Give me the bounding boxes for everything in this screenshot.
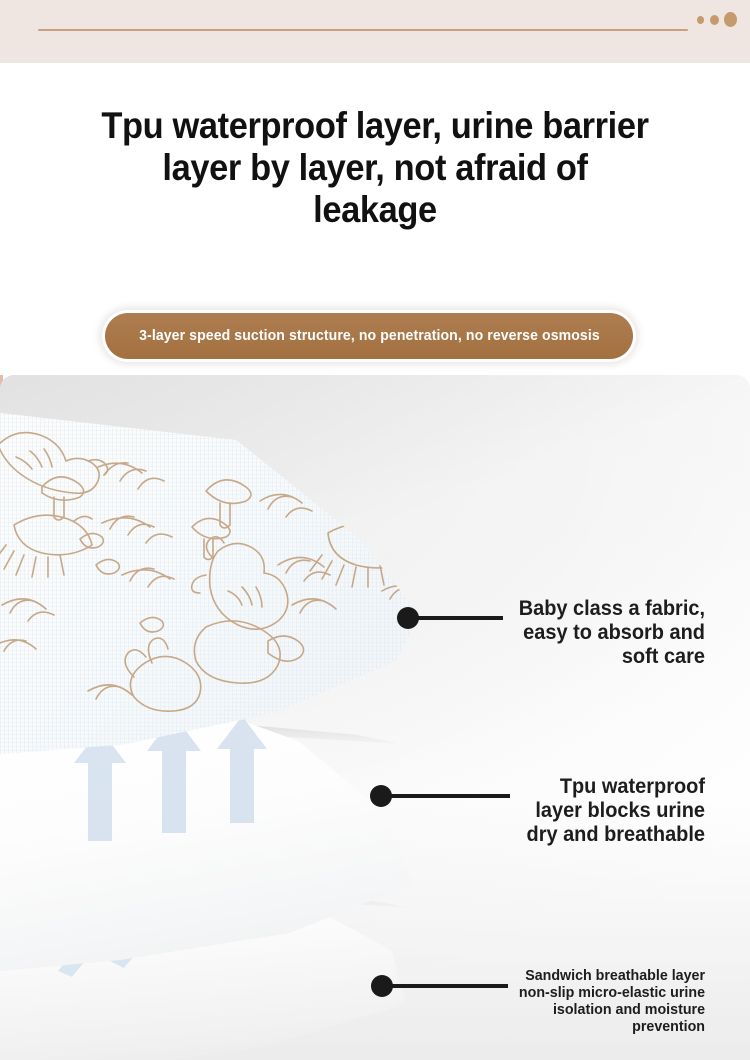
header-band [0, 0, 750, 63]
header-dot-small-icon [697, 16, 704, 24]
product-photo: Baby class a fabric, easy to absorb and … [0, 375, 750, 1060]
header-dot-large-icon [724, 12, 737, 27]
subtitle-pill: 3-layer speed suction structure, no pene… [105, 313, 633, 359]
subtitle-pill-label: 3-layer speed suction structure, no pene… [139, 328, 600, 344]
title-section: Tpu waterproof layer, urine barrier laye… [0, 63, 750, 375]
callout-fabric-label: Baby class a fabric, easy to absorb and … [320, 597, 705, 669]
header-rule [38, 29, 688, 31]
callout-tpu-label: Tpu waterproof layer blocks urine dry an… [320, 775, 705, 847]
callout-sandwich-label: Sandwich breathable layer non-slip micro… [320, 967, 705, 1035]
page-title: Tpu waterproof layer, urine barrier laye… [68, 105, 682, 231]
header-dot-medium-icon [710, 15, 719, 25]
